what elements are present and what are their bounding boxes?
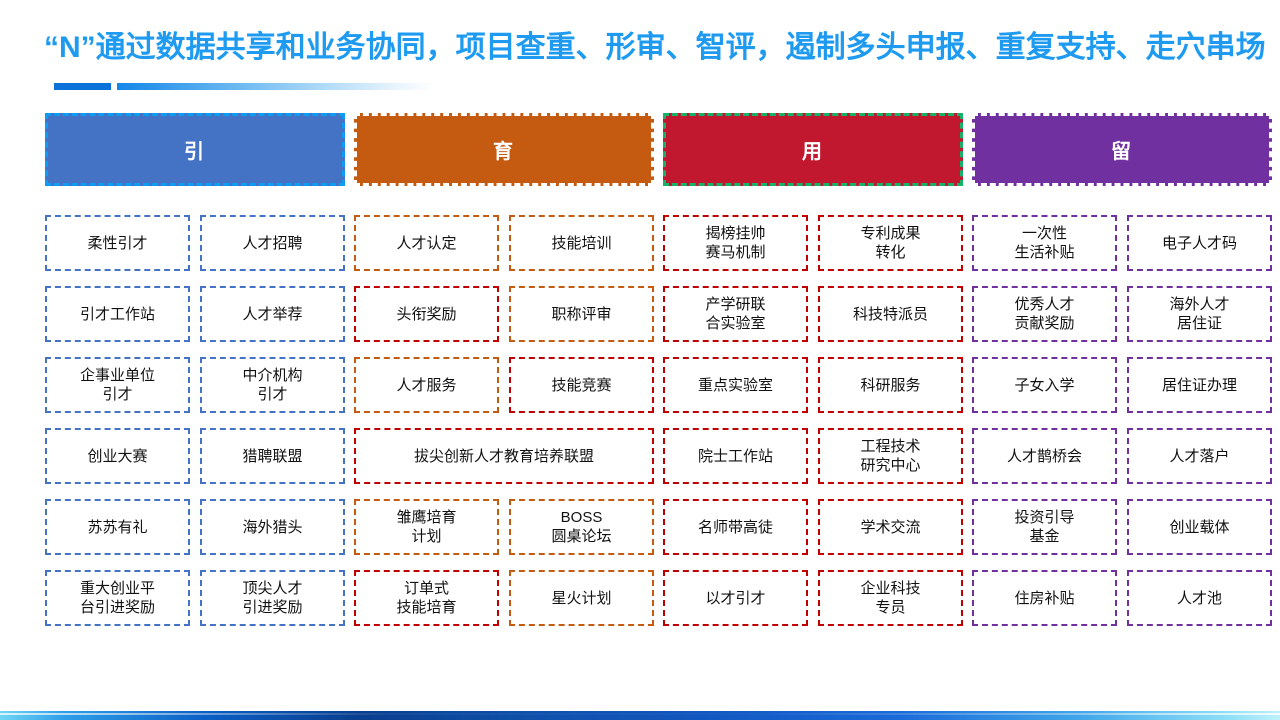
policy-cell[interactable]: 专利成果 转化 <box>818 215 963 271</box>
policy-cell[interactable]: 揭榜挂帅 赛马机制 <box>663 215 808 271</box>
policy-cell[interactable]: 创业大赛 <box>45 428 190 484</box>
underline-gradient-segment <box>117 83 434 90</box>
policy-cell[interactable]: 住房补贴 <box>972 570 1117 626</box>
policy-cell[interactable]: 子女入学 <box>972 357 1117 413</box>
policy-cell[interactable]: 科技特派员 <box>818 286 963 342</box>
policy-cell[interactable]: 人才招聘 <box>200 215 345 271</box>
policy-cell[interactable]: 重点实验室 <box>663 357 808 413</box>
title-underline-decoration <box>54 83 434 90</box>
policy-cell[interactable]: 工程技术 研究中心 <box>818 428 963 484</box>
policy-cell[interactable]: 人才认定 <box>354 215 499 271</box>
policy-cell[interactable]: 人才举荐 <box>200 286 345 342</box>
policy-cell[interactable]: 人才落户 <box>1127 428 1272 484</box>
policy-cell[interactable]: 职称评审 <box>509 286 654 342</box>
policy-cell[interactable]: 院士工作站 <box>663 428 808 484</box>
policy-cell[interactable]: 以才引才 <box>663 570 808 626</box>
policy-cell[interactable]: 人才服务 <box>354 357 499 413</box>
policy-cell[interactable]: 优秀人才 贡献奖励 <box>972 286 1117 342</box>
policy-cell[interactable]: 顶尖人才 引进奖励 <box>200 570 345 626</box>
policy-cell[interactable]: 学术交流 <box>818 499 963 555</box>
policy-cell[interactable]: 人才池 <box>1127 570 1272 626</box>
policy-cell[interactable]: 电子人才码 <box>1127 215 1272 271</box>
policy-cell[interactable]: 居住证办理 <box>1127 357 1272 413</box>
policy-cell[interactable]: 海外猎头 <box>200 499 345 555</box>
policy-cell[interactable]: 科研服务 <box>818 357 963 413</box>
column-yin: 引 柔性引才 人才招聘 引才工作站 人才举荐 企事业单位 引才 中介机构 引才 … <box>45 113 345 626</box>
column-yong: 用 揭榜挂帅 赛马机制 专利成果 转化 产学研联 合实验室 科技特派员 重点实验… <box>663 113 963 626</box>
column-header-yong[interactable]: 用 <box>663 113 963 186</box>
policy-cell[interactable]: 苏苏有礼 <box>45 499 190 555</box>
slide-canvas: “N”通过数据共享和业务协同，项目查重、形审、智评，遏制多头申报、重复支持、走穴… <box>0 0 1280 720</box>
policy-cell[interactable]: 投资引导 基金 <box>972 499 1117 555</box>
policy-cell[interactable]: 引才工作站 <box>45 286 190 342</box>
policy-cell[interactable]: 订单式 技能培育 <box>354 570 499 626</box>
policy-cell[interactable]: 头衔奖励 <box>354 286 499 342</box>
column-yu: 育 人才认定 技能培训 头衔奖励 职称评审 人才服务 技能竞赛 拔尖创新人才教育… <box>354 113 654 626</box>
policy-cell[interactable]: 海外人才 居住证 <box>1127 286 1272 342</box>
column-header-liu[interactable]: 留 <box>972 113 1272 186</box>
policy-cell[interactable]: 技能竞赛 <box>509 357 654 413</box>
column-header-label: 用 <box>802 135 824 164</box>
column-liu: 留 一次性 生活补贴 电子人才码 优秀人才 贡献奖励 海外人才 居住证 子女入学… <box>972 113 1272 626</box>
column-header-yu[interactable]: 育 <box>354 113 654 186</box>
cell-list-yu: 人才认定 技能培训 头衔奖励 职称评审 人才服务 技能竞赛 拔尖创新人才教育培养… <box>354 215 654 626</box>
policy-cell[interactable]: BOSS 圆桌论坛 <box>509 499 654 555</box>
policy-cell[interactable]: 人才鹊桥会 <box>972 428 1117 484</box>
cell-list-liu: 一次性 生活补贴 电子人才码 优秀人才 贡献奖励 海外人才 居住证 子女入学 居… <box>972 215 1272 626</box>
cell-list-yong: 揭榜挂帅 赛马机制 专利成果 转化 产学研联 合实验室 科技特派员 重点实验室 … <box>663 215 963 626</box>
policy-cell[interactable]: 创业载体 <box>1127 499 1272 555</box>
policy-cell[interactable]: 雏鹰培育 计划 <box>354 499 499 555</box>
underline-solid-segment <box>54 83 111 90</box>
column-header-label: 引 <box>184 135 206 164</box>
column-header-label: 育 <box>493 135 515 164</box>
page-title: “N”通过数据共享和业务协同，项目查重、形审、智评，遏制多头申报、重复支持、走穴… <box>44 26 1244 70</box>
cell-list-yin: 柔性引才 人才招聘 引才工作站 人才举荐 企事业单位 引才 中介机构 引才 创业… <box>45 215 345 626</box>
policy-cell[interactable]: 企业科技 专员 <box>818 570 963 626</box>
column-header-label: 留 <box>1111 135 1133 164</box>
policy-cell[interactable]: 名师带高徒 <box>663 499 808 555</box>
policy-cell[interactable]: 产学研联 合实验室 <box>663 286 808 342</box>
policy-cell-wide[interactable]: 拔尖创新人才教育培养联盟 <box>354 428 654 484</box>
bottom-decoration-sheen <box>0 713 1280 715</box>
policy-cell[interactable]: 技能培训 <box>509 215 654 271</box>
policy-cell[interactable]: 柔性引才 <box>45 215 190 271</box>
policy-cell[interactable]: 星火计划 <box>509 570 654 626</box>
policy-cell[interactable]: 中介机构 引才 <box>200 357 345 413</box>
policy-cell[interactable]: 企事业单位 引才 <box>45 357 190 413</box>
column-header-yin[interactable]: 引 <box>45 113 345 186</box>
policy-cell[interactable]: 猎聘联盟 <box>200 428 345 484</box>
policy-cell[interactable]: 重大创业平 台引进奖励 <box>45 570 190 626</box>
policy-cell[interactable]: 一次性 生活补贴 <box>972 215 1117 271</box>
category-grid: 引 柔性引才 人才招聘 引才工作站 人才举荐 企事业单位 引才 中介机构 引才 … <box>0 113 1280 626</box>
